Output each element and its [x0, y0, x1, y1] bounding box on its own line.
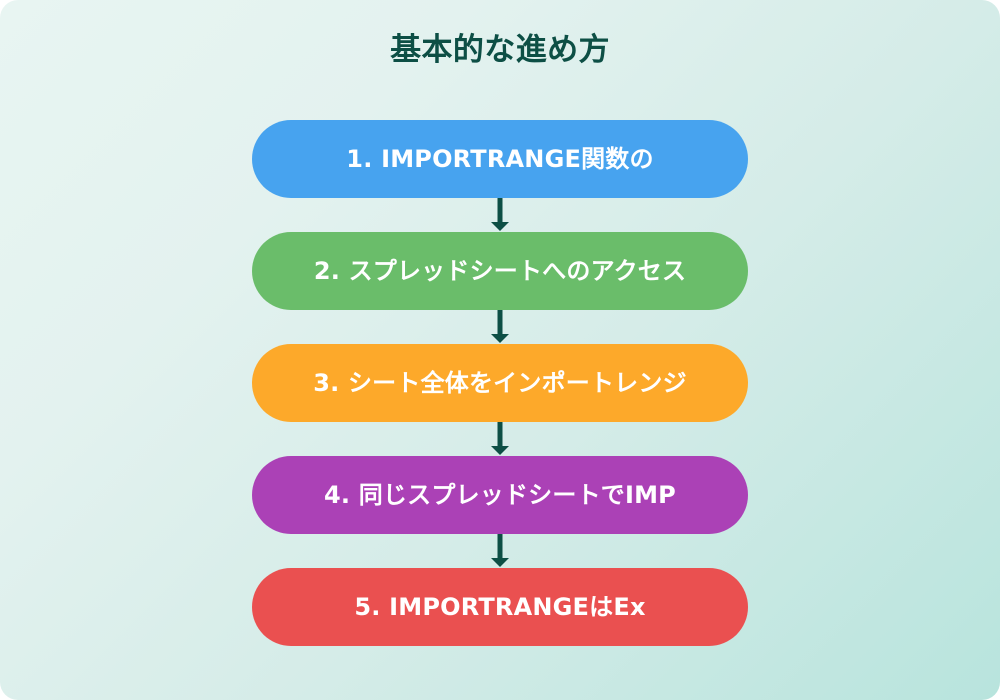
flow-node-label-1: 1. IMPORTRANGE関数の: [346, 144, 653, 174]
flow-node-4[interactable]: 4. 同じスプレッドシートでIMP: [252, 456, 748, 534]
flow-connector-2-3: [252, 310, 748, 344]
arrow-down-icon: [489, 310, 511, 344]
flow-connector-4-5: [252, 534, 748, 568]
page-title: 基本的な進め方: [0, 28, 1000, 72]
flow-node-label-5: 5. IMPORTRANGEはEx: [354, 592, 645, 622]
arrow-down-icon: [489, 422, 511, 456]
arrow-down-icon: [489, 198, 511, 232]
flow-step-list: 1. IMPORTRANGE関数の 2. スプレッドシートへのアクセス: [252, 120, 748, 646]
flow-step-1: 1. IMPORTRANGE関数の: [252, 120, 748, 198]
flow-connector-3-4: [252, 422, 748, 456]
flow-step-4: 4. 同じスプレッドシートでIMP: [252, 456, 748, 534]
flow-node-label-2: 2. スプレッドシートへのアクセス: [314, 256, 686, 286]
flow-node-3[interactable]: 3. シート全体をインポートレンジ: [252, 344, 748, 422]
flow-node-label-4: 4. 同じスプレッドシートでIMP: [324, 480, 676, 510]
flowchart-canvas: 基本的な進め方 1. IMPORTRANGE関数の 2. スプレッドシートへのア…: [0, 0, 1000, 700]
flow-step-2: 2. スプレッドシートへのアクセス: [252, 232, 748, 310]
flow-connector-1-2: [252, 198, 748, 232]
flow-step-3: 3. シート全体をインポートレンジ: [252, 344, 748, 422]
flow-node-label-3: 3. シート全体をインポートレンジ: [313, 368, 687, 398]
arrow-down-icon: [489, 534, 511, 568]
flow-node-2[interactable]: 2. スプレッドシートへのアクセス: [252, 232, 748, 310]
flow-node-1[interactable]: 1. IMPORTRANGE関数の: [252, 120, 748, 198]
flow-step-5: 5. IMPORTRANGEはEx: [252, 568, 748, 646]
flow-node-5[interactable]: 5. IMPORTRANGEはEx: [252, 568, 748, 646]
